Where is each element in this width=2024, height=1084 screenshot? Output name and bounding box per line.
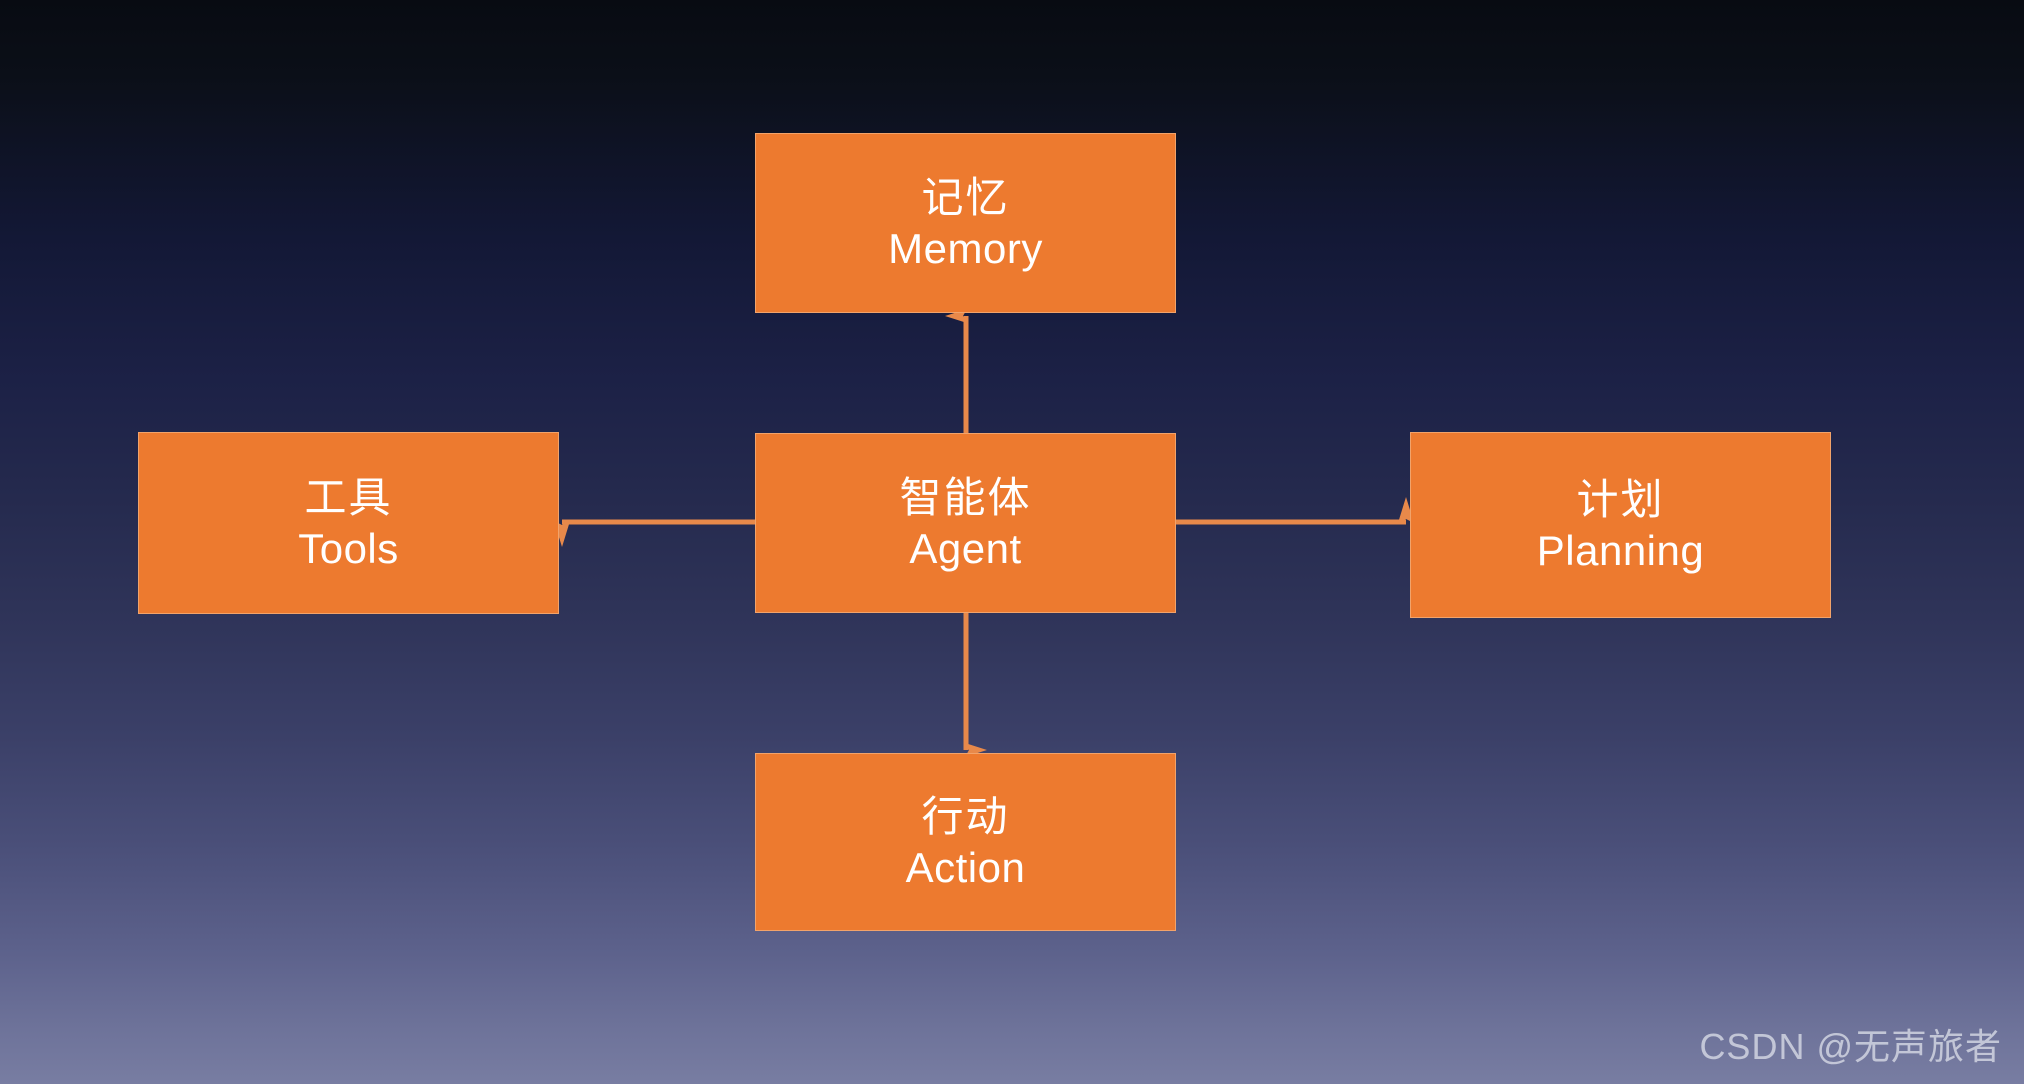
diagram-canvas: 记忆 Memory 工具 Tools 智能体 Agent 计划 Planning… bbox=[0, 0, 2024, 1084]
node-memory-label-en: Memory bbox=[888, 225, 1043, 272]
node-memory-label-zh: 记忆 bbox=[921, 174, 1009, 221]
node-planning-label-zh: 计划 bbox=[1576, 476, 1664, 523]
node-planning-label-en: Planning bbox=[1537, 527, 1704, 574]
node-planning[interactable]: 计划 Planning bbox=[1410, 432, 1831, 618]
node-tools-label-zh: 工具 bbox=[304, 474, 392, 521]
node-action-label-en: Action bbox=[906, 844, 1026, 891]
node-tools[interactable]: 工具 Tools bbox=[138, 432, 559, 614]
node-action-label-zh: 行动 bbox=[921, 793, 1009, 840]
node-tools-label-en: Tools bbox=[298, 525, 399, 572]
node-memory[interactable]: 记忆 Memory bbox=[755, 133, 1176, 313]
watermark: CSDN @无声旅者 bbox=[1699, 1018, 2002, 1070]
node-action[interactable]: 行动 Action bbox=[755, 753, 1176, 931]
node-agent-label-zh: 智能体 bbox=[899, 474, 1031, 521]
node-agent[interactable]: 智能体 Agent bbox=[755, 433, 1176, 613]
node-agent-label-en: Agent bbox=[909, 525, 1021, 572]
